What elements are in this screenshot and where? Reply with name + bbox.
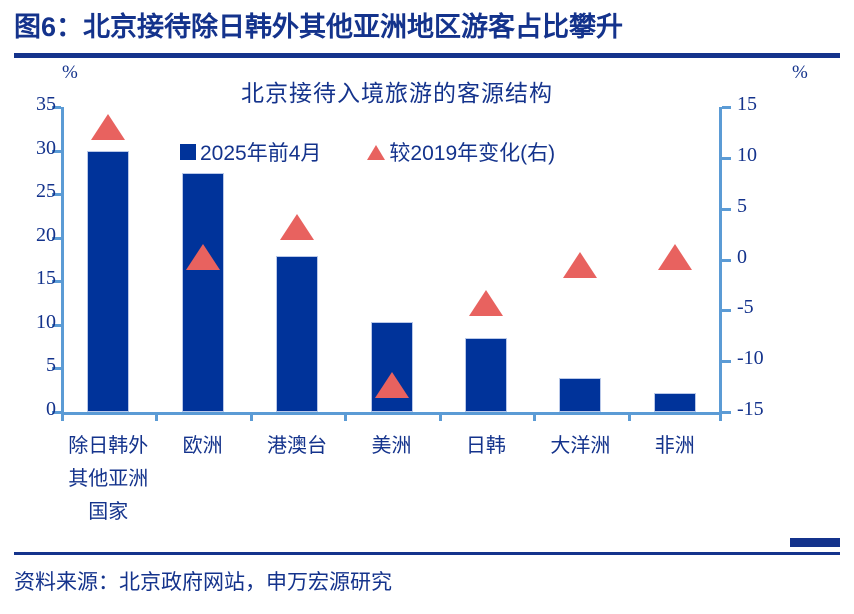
y-axis-right-tick-label: 5 [737,195,747,218]
x-axis-tick [61,412,64,421]
y-axis-left-tick-label: 20 [36,224,56,247]
source-note: 资料来源：北京政府网站，申万宏源研究 [14,566,392,596]
page-title: 图6：北京接待除日韩外其他亚洲地区游客占比攀升 [14,10,623,44]
bar [182,173,224,412]
y-axis-left-tick-label: 30 [36,137,56,160]
x-axis-category-label: 大洋洲 [527,430,633,463]
bar [465,338,507,412]
x-axis-tick [155,412,158,421]
x-axis-category-label: 欧洲 [149,430,255,463]
y-axis-right-tick [722,259,731,262]
triangle-marker [375,372,409,398]
bar [87,151,129,412]
y-axis-left-tick-label: 35 [36,93,56,116]
y-axis-left-tick-label: 15 [36,267,56,290]
bar [276,256,318,412]
figure-title-band: 图6：北京接待除日韩外其他亚洲地区游客占比攀升 [14,10,840,52]
x-axis-category-label: 港澳台 [244,430,350,463]
triangle-marker [469,290,503,316]
bar [559,378,601,412]
triangle-marker [91,114,125,140]
bar [654,393,696,412]
y-axis-right-tick-label: -15 [737,398,764,421]
x-axis-tick [533,412,536,421]
y-axis-right-tick [722,208,731,211]
x-axis-tick [439,412,442,421]
plot-area: 05101520253035 -15-10-5051015 除日韩外 其他亚洲 … [61,107,722,412]
x-axis-tick [628,412,631,421]
x-axis [61,412,722,415]
x-axis-category-label: 日韩 [433,430,539,463]
x-axis-tick [344,412,347,421]
triangle-marker [280,214,314,240]
y-axis-right-tick-label: -5 [737,296,754,319]
footer-accent-block [790,538,840,547]
y-axis-left-tick-label: 10 [36,311,56,334]
x-axis-tick [719,412,722,421]
chart-title: 北京接待入境旅游的客源结构 [0,74,854,108]
y-axis-right-tick [722,309,731,312]
bar [371,322,413,412]
x-axis-category-label: 美洲 [338,430,444,463]
x-axis-category-label: 非洲 [622,430,728,463]
footer-divider [14,552,840,555]
y-axis-right-tick-label: 15 [737,93,757,116]
y-axis-right-tick [722,106,731,109]
chart-container: % % 北京接待入境旅游的客源结构 2025年前4月 较2019年变化(右) 0… [0,52,854,542]
triangle-marker [563,252,597,278]
y-axis-right-tick [722,411,731,414]
y-axis-left-tick-label: 25 [36,180,56,203]
y-axis-right-tick-label: -10 [737,347,764,370]
y-axis-right-tick-label: 10 [737,144,757,167]
y-axis-left-tick-label: 0 [46,398,56,421]
y-axis-right-tick-label: 0 [737,246,747,269]
x-axis-category-label: 除日韩外 其他亚洲 国家 [55,430,161,529]
triangle-marker [186,244,220,270]
y-axis-left-tick-label: 5 [46,354,56,377]
y-axis-left [61,107,64,415]
figure-page: 图6：北京接待除日韩外其他亚洲地区游客占比攀升 % % 北京接待入境旅游的客源结… [0,0,854,614]
x-axis-tick [250,412,253,421]
triangle-marker [658,244,692,270]
y-axis-right-tick [722,157,731,160]
y-axis-right-tick [722,360,731,363]
